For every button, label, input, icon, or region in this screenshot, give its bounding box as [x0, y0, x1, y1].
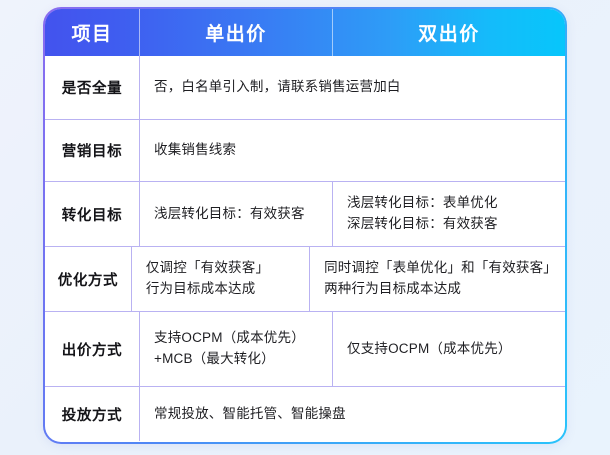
- table-row: 优化方式 仅调控「有效获客」 行为目标成本达成 同时调控「表单优化」和「有效获客…: [45, 246, 565, 311]
- table-row: 营销目标 收集销售线索: [45, 119, 565, 181]
- value-line: 两种行为目标成本达成: [324, 279, 557, 300]
- row-label-text: 营销目标: [62, 140, 122, 161]
- value-line: 同时调控「表单优化」和「有效获客」: [324, 258, 557, 279]
- row-label-marketing-goal: 营销目标: [45, 120, 139, 181]
- table-header-label-single-bid: 单出价: [205, 19, 267, 46]
- value-line: 支持OCPM（成本优先）: [154, 328, 324, 349]
- row-value-bidding-method-dual: 仅支持OCPM（成本优先）: [332, 312, 565, 386]
- value-line: 深层转化目标：有效获客: [347, 214, 557, 235]
- table-header-label-item: 项目: [71, 19, 112, 46]
- table-row: 投放方式 常规投放、智能托管、智能操盘: [45, 386, 565, 441]
- value-line: 常规投放、智能托管、智能操盘: [154, 404, 557, 425]
- row-value-conversion-goal-single: 浅层转化目标：有效获客: [139, 182, 332, 246]
- value-line: 收集销售线索: [154, 140, 557, 161]
- row-label-text: 投放方式: [62, 404, 122, 425]
- value-line: 浅层转化目标：表单优化: [347, 193, 557, 214]
- table-header-row: 项目 单出价 双出价: [45, 9, 565, 56]
- row-label-optimization-method: 优化方式: [45, 247, 131, 311]
- table-body: 是否全量 否，白名单引入制，请联系销售运营加白 营销目标 收集销售线索: [45, 56, 565, 441]
- row-label-text: 转化目标: [62, 204, 122, 225]
- table-row: 出价方式 支持OCPM（成本优先） +MCB（最大转化） 仅支持OCPM（成本优…: [45, 311, 565, 386]
- table-header-cell-dual-bid: 双出价: [332, 9, 565, 56]
- table-row: 是否全量 否，白名单引入制，请联系销售运营加白: [45, 56, 565, 119]
- row-label-text: 优化方式: [58, 269, 118, 290]
- row-value-marketing-goal-merged: 收集销售线索: [139, 120, 565, 181]
- row-label-text: 是否全量: [62, 77, 122, 98]
- table-header-cell-single-bid: 单出价: [139, 9, 332, 56]
- table-header-label-dual-bid: 双出价: [418, 19, 480, 46]
- value-line: +MCB（最大转化）: [154, 349, 324, 370]
- row-value-conversion-goal-dual: 浅层转化目标：表单优化 深层转化目标：有效获客: [332, 182, 565, 246]
- table-header-cell-item: 项目: [45, 9, 139, 56]
- value-line: 行为目标成本达成: [146, 279, 301, 300]
- row-label-delivery-method: 投放方式: [45, 387, 139, 441]
- row-value-full-rollout-merged: 否，白名单引入制，请联系销售运营加白: [139, 56, 565, 119]
- page-root: 项目 单出价 双出价 是否全量 否，白名单引入制，请联系销售运营加白: [0, 0, 610, 455]
- table-row: 转化目标 浅层转化目标：有效获客 浅层转化目标：表单优化 深层转化目标：有效获客: [45, 181, 565, 246]
- row-value-bidding-method-single: 支持OCPM（成本优先） +MCB（最大转化）: [139, 312, 332, 386]
- value-line: 浅层转化目标：有效获客: [154, 204, 324, 225]
- value-line: 仅调控「有效获客」: [146, 258, 301, 279]
- row-value-delivery-method-merged: 常规投放、智能托管、智能操盘: [139, 387, 565, 441]
- row-value-optimization-method-single: 仅调控「有效获客」 行为目标成本达成: [131, 247, 309, 311]
- comparison-table: 项目 单出价 双出价 是否全量 否，白名单引入制，请联系销售运营加白: [45, 9, 565, 442]
- row-label-conversion-goal: 转化目标: [45, 182, 139, 246]
- row-label-bidding-method: 出价方式: [45, 312, 139, 386]
- row-value-optimization-method-dual: 同时调控「表单优化」和「有效获客」 两种行为目标成本达成: [309, 247, 565, 311]
- value-line: 否，白名单引入制，请联系销售运营加白: [154, 77, 557, 98]
- value-line: 仅支持OCPM（成本优先）: [347, 339, 557, 360]
- comparison-table-frame: 项目 单出价 双出价 是否全量 否，白名单引入制，请联系销售运营加白: [43, 7, 567, 444]
- row-label-full-rollout: 是否全量: [45, 56, 139, 119]
- row-label-text: 出价方式: [62, 339, 122, 360]
